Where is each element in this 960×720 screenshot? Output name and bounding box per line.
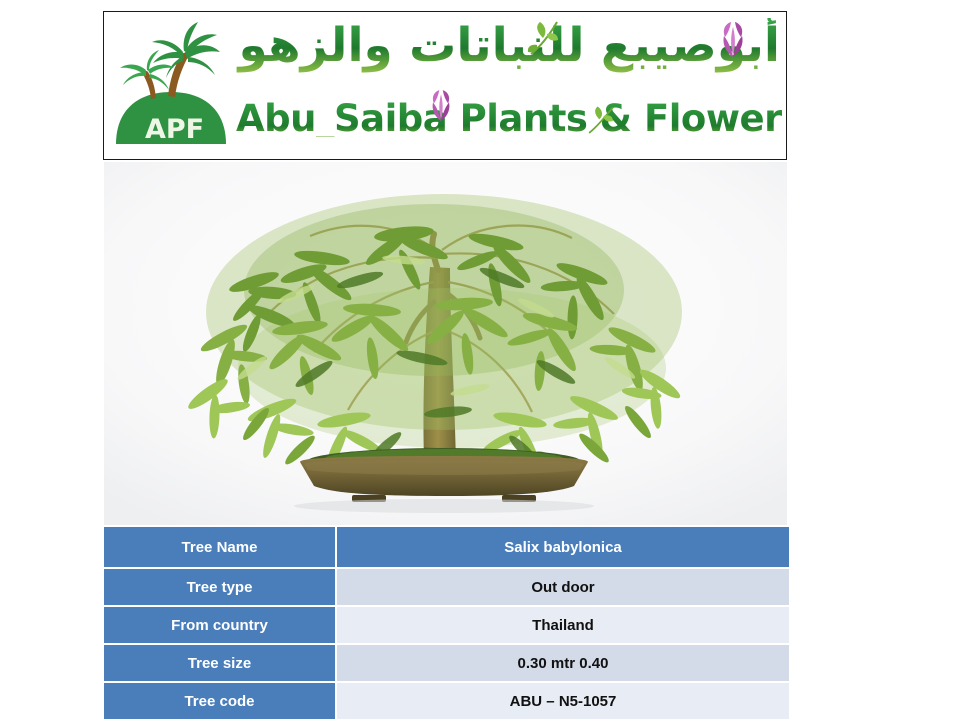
- spec-value-from-country: Thailand: [337, 607, 789, 645]
- table-row: From country Thailand: [104, 607, 789, 645]
- brand-banner: APF أبوصيبع للنباتات والزهور Abu_Saiba P…: [103, 11, 787, 160]
- spec-value-tree-name: Salix babylonica: [337, 527, 789, 569]
- product-photo: [104, 162, 787, 525]
- product-sheet-page: APF أبوصيبع للنباتات والزهور Abu_Saiba P…: [0, 0, 960, 720]
- apf-badge-text: APF: [145, 114, 204, 145]
- spec-value-tree-type: Out door: [337, 569, 789, 607]
- tree-spec-table: Tree Name Salix babylonica Tree type Out…: [104, 527, 789, 719]
- spec-key-tree-size: Tree size: [104, 645, 337, 683]
- bonsai-illustration: [104, 162, 787, 525]
- leaf-sprig-icon: [523, 18, 563, 63]
- table-row: Tree size 0.30 mtr 0.40: [104, 645, 789, 683]
- brand-name-arabic: أبوصيبع للنباتات والزهور: [236, 18, 780, 73]
- magnolia-flower-icon: [716, 22, 750, 63]
- spec-key-tree-type: Tree type: [104, 569, 337, 607]
- brand-wordmark: أبوصيبع للنباتات والزهور Abu_Saiba Plant…: [236, 12, 784, 159]
- spec-key-from-country: From country: [104, 607, 337, 645]
- spec-key-tree-name: Tree Name: [104, 527, 337, 569]
- spec-value-tree-code: ABU – N5-1057: [337, 683, 789, 719]
- spec-value-tree-size: 0.30 mtr 0.40: [337, 645, 789, 683]
- leaf-sprig-icon: [584, 104, 618, 143]
- table-row: Tree type Out door: [104, 569, 789, 607]
- table-row: Tree code ABU – N5-1057: [104, 683, 789, 719]
- brand-name-english: Abu_Saiba Plants & Flowers: [236, 100, 782, 137]
- magnolia-flower-icon: [426, 90, 456, 127]
- spec-key-tree-code: Tree code: [104, 683, 337, 719]
- table-row: Tree Name Salix babylonica: [104, 527, 789, 569]
